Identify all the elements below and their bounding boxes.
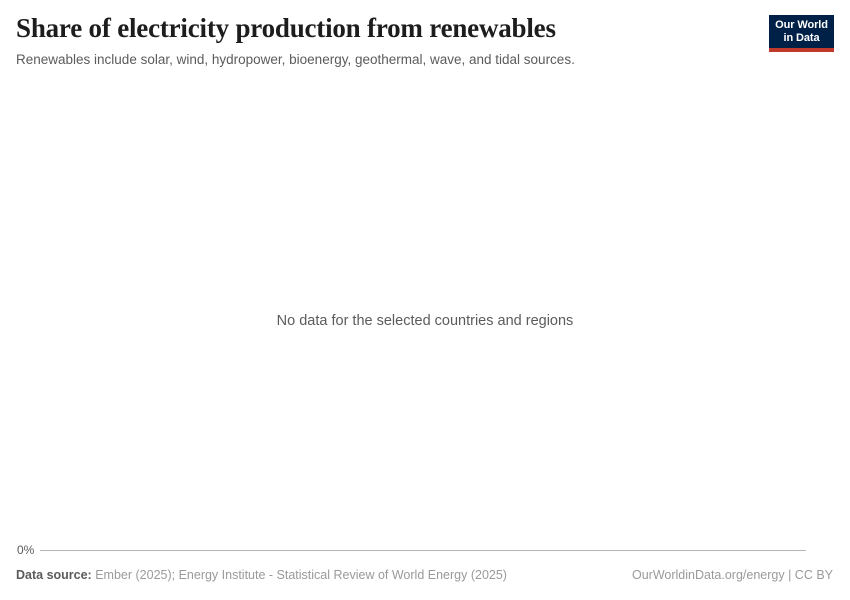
chart-header: Share of electricity production from ren… bbox=[0, 0, 850, 78]
data-source-note: Data source: Ember (2025); Energy Instit… bbox=[16, 568, 507, 582]
chart-footer: Data source: Ember (2025); Energy Instit… bbox=[0, 566, 850, 590]
page-title: Share of electricity production from ren… bbox=[16, 12, 556, 44]
license-note[interactable]: OurWorldinData.org/energy | CC BY bbox=[632, 568, 833, 582]
y-axis-baseline: 0% bbox=[0, 541, 850, 561]
axis-gridline bbox=[40, 550, 806, 551]
axis-tick-label-zero: 0% bbox=[17, 543, 34, 557]
empty-state-message: No data for the selected countries and r… bbox=[0, 313, 850, 329]
chart-subtitle: Renewables include solar, wind, hydropow… bbox=[16, 51, 575, 69]
plot-area: No data for the selected countries and r… bbox=[0, 78, 850, 540]
logo-line-1: Our World bbox=[775, 20, 828, 31]
logo-line-2: in Data bbox=[784, 33, 820, 44]
our-world-in-data-logo[interactable]: Our World in Data bbox=[769, 15, 834, 52]
data-source-label: Data source: bbox=[16, 568, 92, 582]
owid-chart: Share of electricity production from ren… bbox=[0, 0, 850, 600]
data-source-text: Ember (2025); Energy Institute - Statist… bbox=[92, 568, 507, 582]
